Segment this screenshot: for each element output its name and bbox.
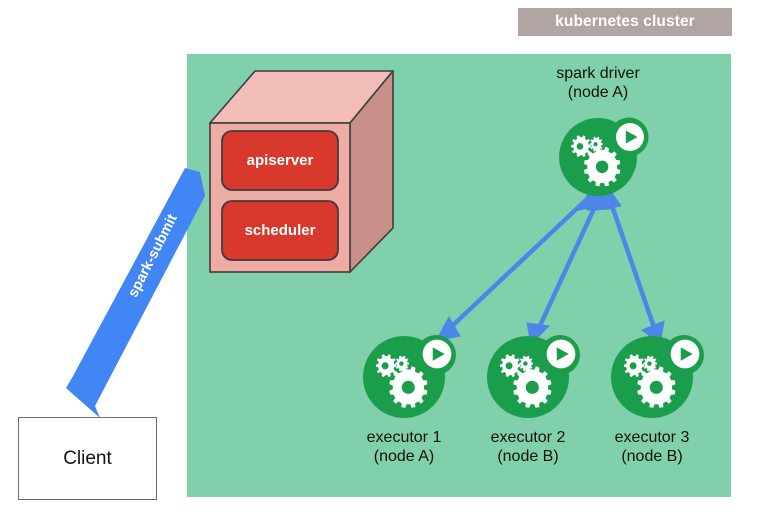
kubernetes-cluster-label: kubernetes cluster xyxy=(518,8,732,36)
kubernetes-cluster-label-text: kubernetes cluster xyxy=(555,13,695,31)
client-box[interactable]: Client xyxy=(18,417,157,500)
spark-submit-arrow xyxy=(66,168,205,418)
apiserver-label: apiserver xyxy=(222,152,338,169)
diagram-canvas: kubernetes cluster apiserver scheduler s… xyxy=(0,0,761,516)
executor-1-caption: executor 1 (node A) xyxy=(334,428,474,466)
control-plane-cube xyxy=(210,71,393,272)
executor-3-caption: executor 3 (node B) xyxy=(582,428,722,466)
client-label: Client xyxy=(63,448,112,470)
executor-2-caption: executor 2 (node B) xyxy=(458,428,598,466)
spark-driver-caption: spark driver (node A) xyxy=(518,64,678,102)
scheduler-label: scheduler xyxy=(222,222,338,239)
